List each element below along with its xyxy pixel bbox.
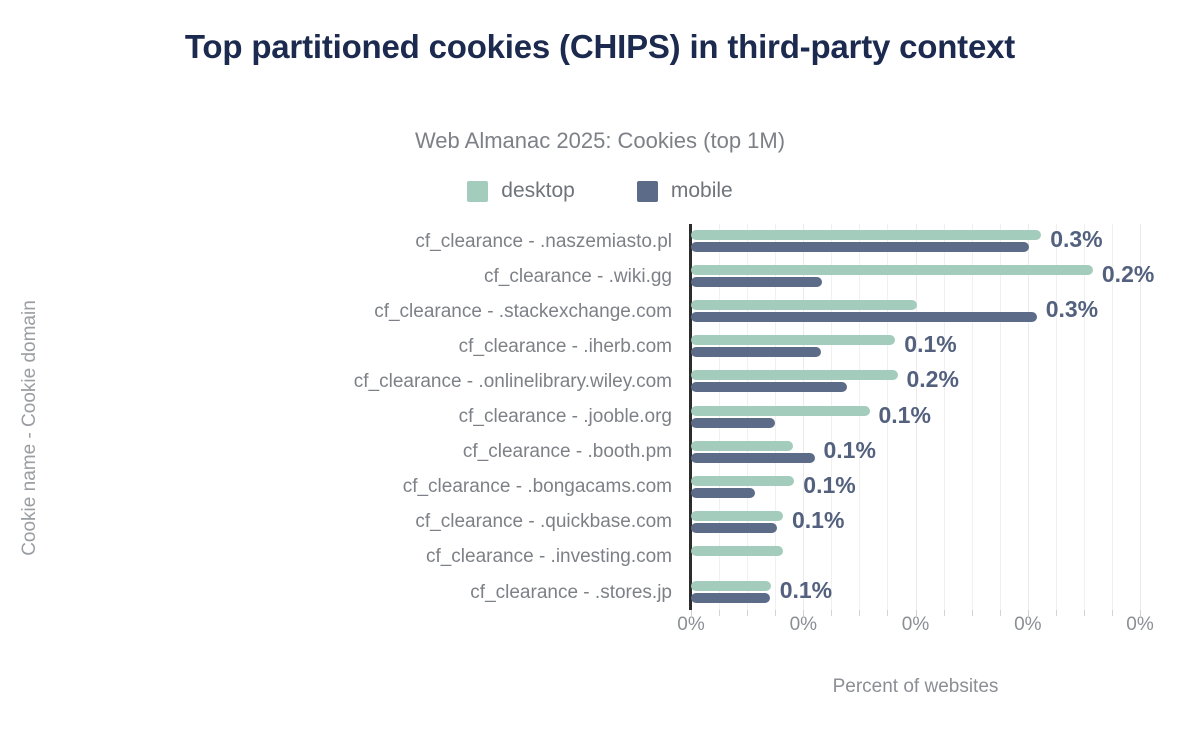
bar-desktop[interactable] <box>691 265 1093 275</box>
x-axis-tick-mark <box>1084 610 1085 616</box>
legend-label-desktop: desktop <box>501 179 575 203</box>
bar-desktop[interactable] <box>691 581 771 591</box>
legend-swatch-mobile <box>637 181 658 202</box>
bar-group: 0.2% <box>691 259 1140 294</box>
x-axis-title: Percent of websites <box>691 676 1140 698</box>
x-axis-tick-label: 0% <box>790 614 817 636</box>
x-axis-tick-label: 0% <box>1126 614 1153 636</box>
bar-group: 0.1% <box>691 505 1140 540</box>
bar-desktop[interactable] <box>691 406 870 416</box>
bar-group <box>691 540 1140 575</box>
y-axis-label: cf_clearance - .quickbase.com <box>415 511 672 533</box>
chart-container: Top partitioned cookies (CHIPS) in third… <box>0 0 1200 742</box>
bar-mobile[interactable] <box>691 418 775 428</box>
y-axis-label: cf_clearance - .jooble.org <box>459 406 672 428</box>
legend-swatch-desktop <box>467 181 488 202</box>
bar-value-label: 0.1% <box>792 507 844 534</box>
x-axis-tick-mark <box>1028 610 1029 616</box>
x-axis-tick-mark <box>1112 610 1113 616</box>
chart-title: Top partitioned cookies (CHIPS) in third… <box>0 28 1200 67</box>
y-axis-label: cf_clearance - .iherb.com <box>459 336 672 358</box>
y-axis-label: cf_clearance - .wiki.gg <box>484 266 672 288</box>
x-axis-tick-label: 0% <box>677 614 704 636</box>
bar-desktop[interactable] <box>691 511 783 521</box>
bar-mobile[interactable] <box>691 593 770 603</box>
bar-desktop[interactable] <box>691 546 783 556</box>
bar-mobile[interactable] <box>691 242 1029 252</box>
x-axis-tick-mark <box>1140 610 1141 616</box>
plot-area: 0.3%0.2%0.3%0.1%0.2%0.1%0.1%0.1%0.1%0.1% <box>691 224 1140 610</box>
x-axis-tick-mark <box>803 610 804 616</box>
bar-mobile[interactable] <box>691 488 755 498</box>
bar-group: 0.1% <box>691 400 1140 435</box>
bar-value-label: 0.1% <box>904 331 956 358</box>
y-axis-title: Cookie name - Cookie domain <box>19 278 41 578</box>
y-axis-label: cf_clearance - .investing.com <box>426 546 672 568</box>
bar-value-label: 0.3% <box>1050 226 1102 253</box>
bar-mobile[interactable] <box>691 277 822 287</box>
bar-value-label: 0.1% <box>824 437 876 464</box>
legend-item-mobile[interactable]: mobile <box>637 179 733 203</box>
chart-subtitle: Web Almanac 2025: Cookies (top 1M) <box>0 128 1200 154</box>
x-axis-tick-mark <box>916 610 917 616</box>
bar-desktop[interactable] <box>691 476 794 486</box>
bar-group: 0.1% <box>691 470 1140 505</box>
x-axis-tick-mark <box>859 610 860 616</box>
y-axis-label: cf_clearance - .booth.pm <box>463 441 672 463</box>
y-axis-label: cf_clearance - .stackexchange.com <box>374 301 672 323</box>
x-axis-tick-mark <box>775 610 776 616</box>
x-axis-tick-mark <box>747 610 748 616</box>
x-axis-tick-mark <box>691 610 692 616</box>
bar-value-label: 0.3% <box>1046 296 1098 323</box>
x-axis-tick-label: 0% <box>902 614 929 636</box>
bar-desktop[interactable] <box>691 441 793 451</box>
x-axis-tick-mark <box>1056 610 1057 616</box>
x-axis-tick-mark <box>972 610 973 616</box>
bar-value-label: 0.2% <box>1102 261 1154 288</box>
x-axis-tick-mark <box>1000 610 1001 616</box>
x-axis-tick-mark <box>944 610 945 616</box>
bar-value-label: 0.1% <box>879 402 931 429</box>
x-axis-tick-mark <box>887 610 888 616</box>
bar-desktop[interactable] <box>691 230 1041 240</box>
bar-mobile[interactable] <box>691 312 1037 322</box>
bar-mobile[interactable] <box>691 347 821 357</box>
bar-value-label: 0.1% <box>803 472 855 499</box>
bar-desktop[interactable] <box>691 335 895 345</box>
bar-group: 0.2% <box>691 364 1140 399</box>
bar-desktop[interactable] <box>691 300 917 310</box>
x-axis-tick-label: 0% <box>1014 614 1041 636</box>
bar-group: 0.1% <box>691 575 1140 610</box>
x-axis-tick-mark <box>719 610 720 616</box>
bar-group: 0.3% <box>691 294 1140 329</box>
chart-legend: desktop mobile <box>0 179 1200 203</box>
bar-mobile[interactable] <box>691 382 847 392</box>
bar-value-label: 0.2% <box>907 366 959 393</box>
bar-group: 0.1% <box>691 435 1140 470</box>
y-axis-label: cf_clearance - .bongacams.com <box>403 476 672 498</box>
bar-desktop[interactable] <box>691 370 898 380</box>
y-axis-category-labels: cf_clearance - .naszemiasto.plcf_clearan… <box>0 224 680 610</box>
bar-mobile[interactable] <box>691 523 777 533</box>
y-axis-label: cf_clearance - .onlinelibrary.wiley.com <box>354 371 672 393</box>
legend-label-mobile: mobile <box>671 179 733 203</box>
legend-item-desktop[interactable]: desktop <box>467 179 575 203</box>
y-axis-label: cf_clearance - .stores.jp <box>470 582 672 604</box>
bar-value-label: 0.1% <box>780 577 832 604</box>
x-axis-tick-mark <box>831 610 832 616</box>
bar-mobile[interactable] <box>691 453 815 463</box>
bar-group: 0.1% <box>691 329 1140 364</box>
y-axis-label: cf_clearance - .naszemiasto.pl <box>415 231 672 253</box>
bar-group: 0.3% <box>691 224 1140 259</box>
